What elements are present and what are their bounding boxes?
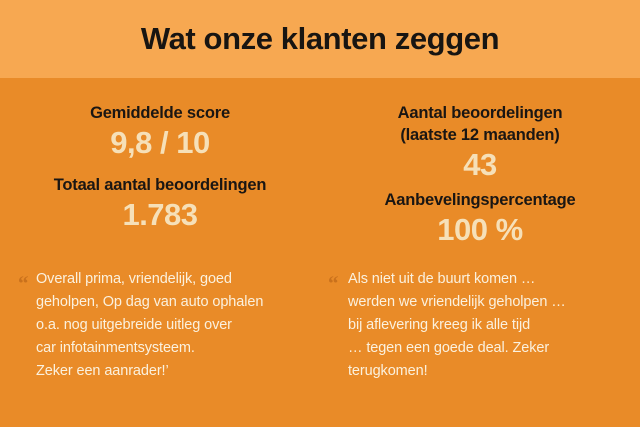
stat-label: Aantal beoordelingen (laatste 12 maanden… [320, 102, 640, 146]
testimonials-poster: Wat onze klanten zeggen Gemiddelde score… [0, 0, 640, 427]
testimonial-line: Overall prima, vriendelijk, goed [36, 268, 298, 291]
testimonial-line: Zeker een aanrader!’ [36, 360, 298, 383]
testimonial-line: geholpen, Op dag van auto ophalen [36, 291, 298, 314]
stat-reviews-last-12-months: Aantal beoordelingen (laatste 12 maanden… [320, 102, 640, 184]
testimonial-line: car infotainmentsysteem. [36, 337, 298, 360]
stat-label: Aanbevelingspercentage [320, 189, 640, 211]
testimonial-line: … tegen een goede deal. Zeker [348, 337, 624, 360]
stat-value: 43 [320, 146, 640, 184]
testimonial-card: “ Als niet uit de buurt komen … werden w… [320, 268, 640, 408]
testimonial-line: bij aflevering kreeg ik alle tijd [348, 314, 624, 337]
stats-column-right: Aantal beoordelingen (laatste 12 maanden… [320, 78, 640, 264]
stat-value: 1.783 [0, 196, 320, 234]
stats-column-left: Gemiddelde score 9,8 / 10 Totaal aantal … [0, 78, 320, 264]
stat-average-score: Gemiddelde score 9,8 / 10 [0, 102, 320, 162]
stat-value: 100 % [320, 211, 640, 249]
testimonial-text: Overall prima, vriendelijk, goed geholpe… [36, 268, 298, 383]
quote-mark-icon: “ [328, 273, 338, 294]
testimonial-line: terugkomen! [348, 360, 624, 383]
page-title: Wat onze klanten zeggen [0, 19, 640, 59]
stat-label-sub: (laatste 12 maanden) [320, 124, 640, 146]
stat-label: Totaal aantal beoordelingen [0, 174, 320, 196]
quote-mark-icon: “ [18, 273, 28, 294]
testimonial-text: Als niet uit de buurt komen … werden we … [348, 268, 624, 383]
testimonial-card: “ Overall prima, vriendelijk, goed gehol… [0, 268, 320, 408]
stat-label-main: Aantal beoordelingen [398, 104, 563, 122]
testimonial-line: werden we vriendelijk geholpen … [348, 291, 624, 314]
testimonials-section: “ Overall prima, vriendelijk, goed gehol… [0, 268, 640, 408]
testimonial-line: Als niet uit de buurt komen … [348, 268, 624, 291]
stats-section: Gemiddelde score 9,8 / 10 Totaal aantal … [0, 78, 640, 264]
stat-label: Gemiddelde score [0, 102, 320, 124]
header-band: Wat onze klanten zeggen [0, 0, 640, 78]
stat-value: 9,8 / 10 [0, 124, 320, 162]
stat-total-reviews: Totaal aantal beoordelingen 1.783 [0, 174, 320, 234]
testimonial-line: o.a. nog uitgebreide uitleg over [36, 314, 298, 337]
stat-recommendation-rate: Aanbevelingspercentage 100 % [320, 189, 640, 249]
